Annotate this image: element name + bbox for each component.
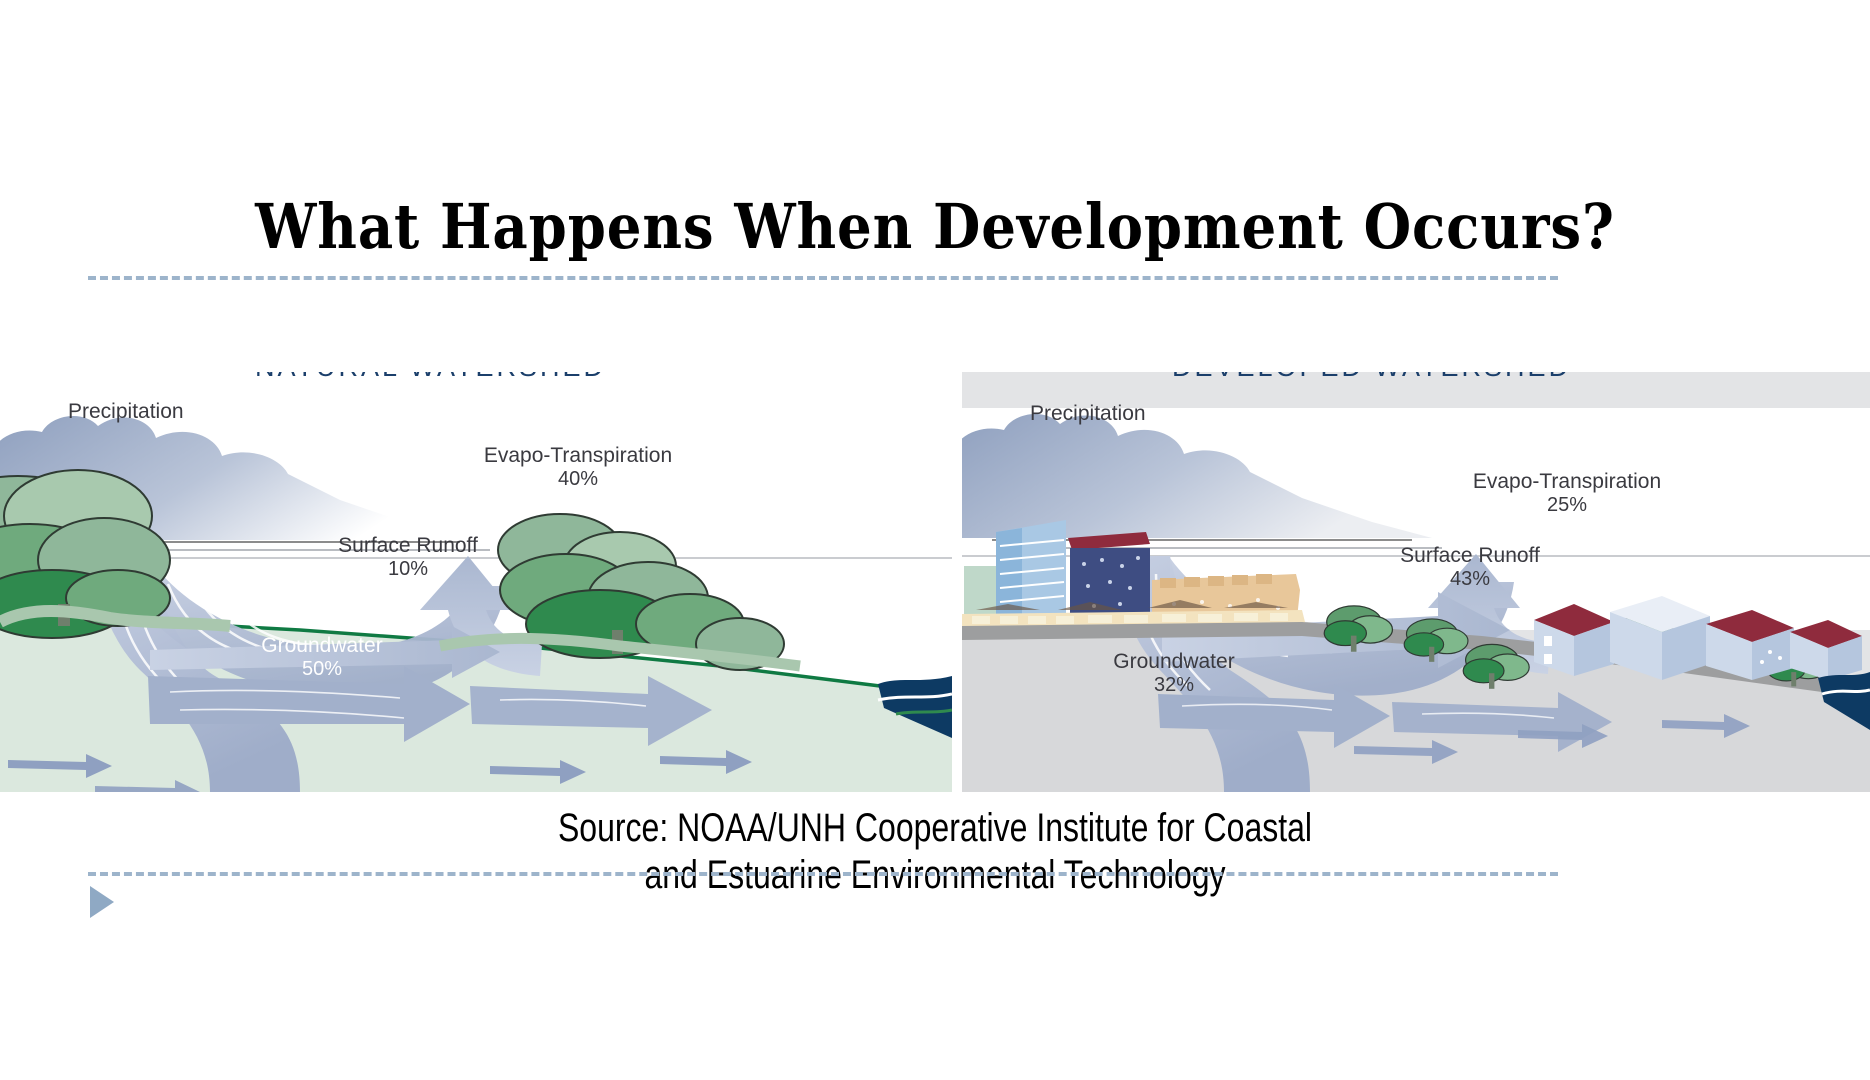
label-groundwater-natural-name: Groundwater xyxy=(232,634,412,658)
natural-watershed-panel: NATURAL WATERSHED xyxy=(0,372,952,792)
label-groundwater-developed: Groundwater 32% xyxy=(1084,650,1264,696)
label-surface-runoff-developed-value: 43% xyxy=(1380,568,1560,590)
label-groundwater-natural-value: 50% xyxy=(232,658,412,680)
natural-watershed-illustration xyxy=(0,408,952,792)
label-precipitation-natural: Precipitation xyxy=(68,400,184,424)
label-surface-runoff-natural: Surface Runoff 10% xyxy=(318,534,498,580)
developed-watershed-illustration xyxy=(962,408,1870,792)
bullet-triangle-icon xyxy=(90,886,114,918)
label-precipitation-developed: Precipitation xyxy=(1030,402,1146,426)
source-caption-line-1: Source: NOAA/UNH Cooperative Institute f… xyxy=(187,805,1683,852)
label-evapotranspiration-natural-name: Evapo-Transpiration xyxy=(478,444,678,468)
title-divider xyxy=(88,276,1558,280)
label-groundwater-developed-name: Groundwater xyxy=(1084,650,1264,674)
label-surface-runoff-developed-name: Surface Runoff xyxy=(1380,544,1560,568)
label-groundwater-developed-value: 32% xyxy=(1084,674,1264,696)
footer-divider xyxy=(88,872,1558,876)
label-surface-runoff-natural-name: Surface Runoff xyxy=(318,534,498,558)
label-surface-runoff-natural-value: 10% xyxy=(318,558,498,580)
label-evapotranspiration-developed: Evapo-Transpiration 25% xyxy=(1462,470,1672,516)
developed-watershed-heading: DEVELOPED WATERSHED xyxy=(1172,372,1571,383)
developed-watershed-panel: DEVELOPED WATERSHED xyxy=(962,372,1870,792)
natural-watershed-heading: NATURAL WATERSHED xyxy=(255,372,606,383)
label-evapotranspiration-developed-name: Evapo-Transpiration xyxy=(1462,470,1672,494)
label-surface-runoff-developed: Surface Runoff 43% xyxy=(1380,544,1560,590)
label-evapotranspiration-natural-value: 40% xyxy=(478,468,678,490)
source-caption: Source: NOAA/UNH Cooperative Institute f… xyxy=(187,805,1683,899)
label-evapotranspiration-developed-value: 25% xyxy=(1462,494,1672,516)
page-title: What Happens When Development Occurs? xyxy=(112,190,1758,263)
watershed-comparison-figure: NATURAL WATERSHED xyxy=(0,372,1870,792)
label-groundwater-natural: Groundwater 50% xyxy=(232,634,412,680)
label-evapotranspiration-natural: Evapo-Transpiration 40% xyxy=(478,444,678,490)
